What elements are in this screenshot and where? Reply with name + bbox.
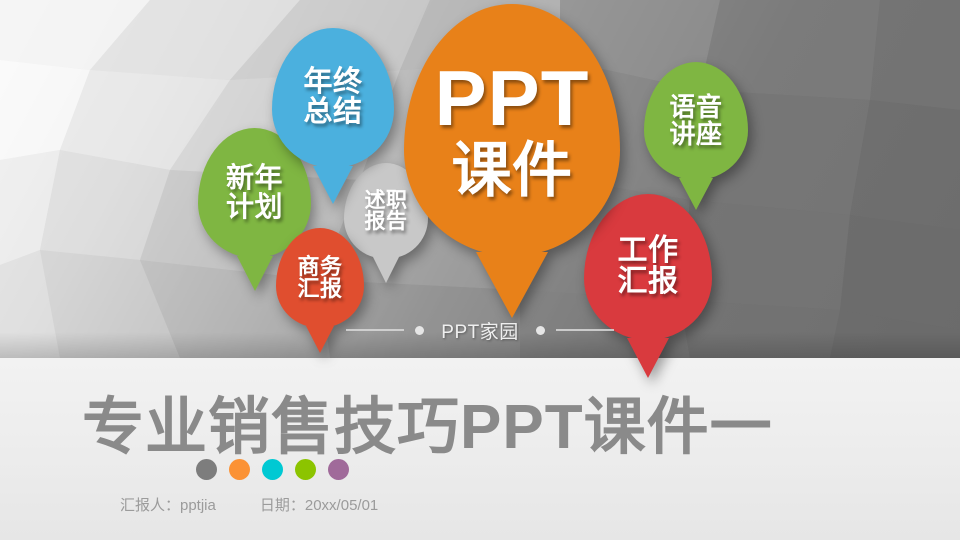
- accent-dot-1: [196, 459, 217, 480]
- page-title: 专业销售技巧PPT课件一: [82, 376, 773, 466]
- pin-line-2: 讲座: [669, 121, 722, 148]
- brand-line: PPT家园: [0, 316, 960, 344]
- accent-dot-4: [295, 459, 316, 480]
- brand-rule-right: [556, 329, 614, 331]
- brand-dot-left-icon: [415, 326, 424, 335]
- accent-dots: [196, 459, 349, 480]
- accent-dot-3: [262, 459, 283, 480]
- presenter-text: 汇报人：pptjia: [120, 494, 216, 515]
- accent-dot-5: [328, 459, 349, 480]
- pin-line-2: 报告: [365, 211, 408, 232]
- pin-line-1: PPT: [435, 59, 590, 139]
- accent-dot-2: [229, 459, 250, 480]
- date-text: 日期：20xx/05/01: [260, 494, 378, 515]
- pin-line-1: 语音: [669, 94, 722, 121]
- brand-rule-left: [346, 329, 404, 331]
- brand-dot-right-icon: [536, 326, 545, 335]
- pin-line-2: 计划: [226, 193, 283, 222]
- pin-line-2: 课件: [452, 140, 573, 201]
- slide-meta: 汇报人：pptjia 日期：20xx/05/01: [120, 494, 378, 515]
- pin-line-1: 新年: [226, 164, 283, 193]
- pin-line-1: 工作: [618, 236, 679, 267]
- brand-name: PPT家园: [435, 317, 524, 344]
- pin-line-2: 汇报: [297, 278, 342, 300]
- pin-line-1: 年终: [303, 68, 362, 98]
- pin-line-2: 汇报: [618, 267, 679, 298]
- pin-line-1: 商务: [297, 256, 342, 278]
- pin-line-2: 总结: [303, 98, 362, 128]
- pin-line-1: 述职: [365, 190, 408, 211]
- slide-root: 新年 计划 年终 总结 述职 报告 商务 汇报 语音 讲座 工作 汇报 PPT …: [0, 0, 960, 540]
